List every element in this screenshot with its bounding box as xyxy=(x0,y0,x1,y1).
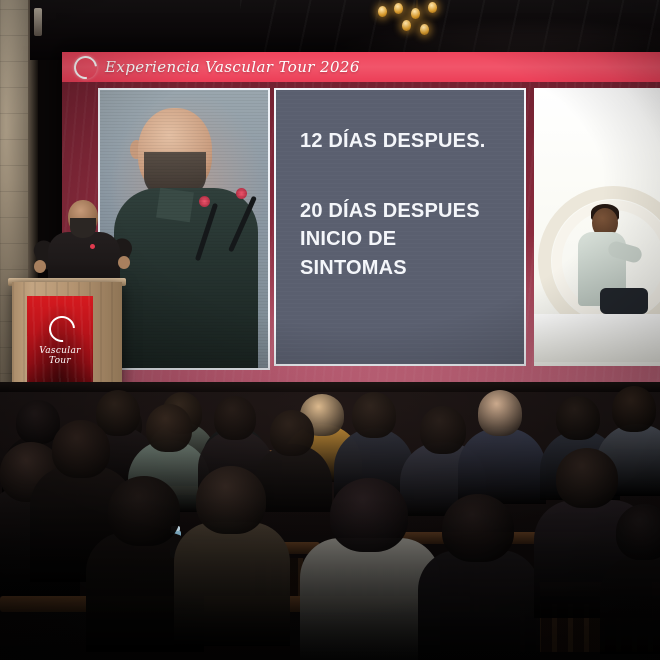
attendee-12-head xyxy=(214,396,256,440)
attendee-15-head xyxy=(420,406,466,454)
attendee-8-torso xyxy=(600,554,660,654)
chandelier-icon xyxy=(372,0,462,46)
attendee-7-head xyxy=(556,448,618,508)
slide-banner-title: Experiencia Vascular Tour 2026 xyxy=(105,58,360,76)
attendee-6-torso xyxy=(418,550,540,660)
conference-photo: Experiencia Vascular Tour 2026 12 DÍAS D… xyxy=(0,0,660,660)
wall-sconce-icon xyxy=(34,8,42,36)
attendee-5-head xyxy=(330,478,408,552)
speaker xyxy=(34,200,130,286)
feed-speaker-head xyxy=(138,108,212,194)
ceiling xyxy=(30,0,660,60)
attendee-2-head xyxy=(52,420,110,478)
attendee-4-torso xyxy=(174,522,290,646)
audience-area xyxy=(0,382,660,660)
attendee-18-head xyxy=(612,386,656,432)
clinical-photo-image xyxy=(534,88,660,366)
attendee-11-head xyxy=(146,404,192,452)
speaker-badge xyxy=(90,244,95,249)
attendee-16-head xyxy=(478,390,522,436)
microphone-icon xyxy=(195,203,218,262)
attendee-13-head xyxy=(270,410,314,456)
attendee-17-head xyxy=(556,396,600,440)
projection-screen: Experiencia Vascular Tour 2026 12 DÍAS D… xyxy=(62,52,660,382)
attendee-14-head xyxy=(352,392,396,438)
attendee-8-head xyxy=(616,504,660,560)
speaker-hand xyxy=(118,256,130,269)
clinical-photo-panel xyxy=(534,88,660,366)
vascular-ring-icon xyxy=(44,311,81,348)
slide-line-1: 12 DÍAS DESPUES. xyxy=(300,130,524,153)
microphone-icon xyxy=(228,196,257,253)
attendee-16-torso xyxy=(458,428,546,504)
podium-poster: Vascular Tour xyxy=(27,296,93,386)
podium-poster-text: Vascular Tour xyxy=(27,346,93,366)
feed-speaker-body xyxy=(114,188,258,370)
vascular-ring-icon xyxy=(69,51,101,83)
attendee-6-head xyxy=(442,494,514,562)
slide-text-panel: 12 DÍAS DESPUES. 20 DÍAS DESPUES INICIO … xyxy=(274,88,526,366)
speaker-hand xyxy=(34,260,46,273)
slide-banner: Experiencia Vascular Tour 2026 xyxy=(62,52,660,82)
attendee-4-head xyxy=(196,466,266,534)
slide-line-2: 20 DÍAS DESPUES INICIO DE SINTOMAS xyxy=(300,197,524,282)
attendee-3-head xyxy=(108,476,180,546)
